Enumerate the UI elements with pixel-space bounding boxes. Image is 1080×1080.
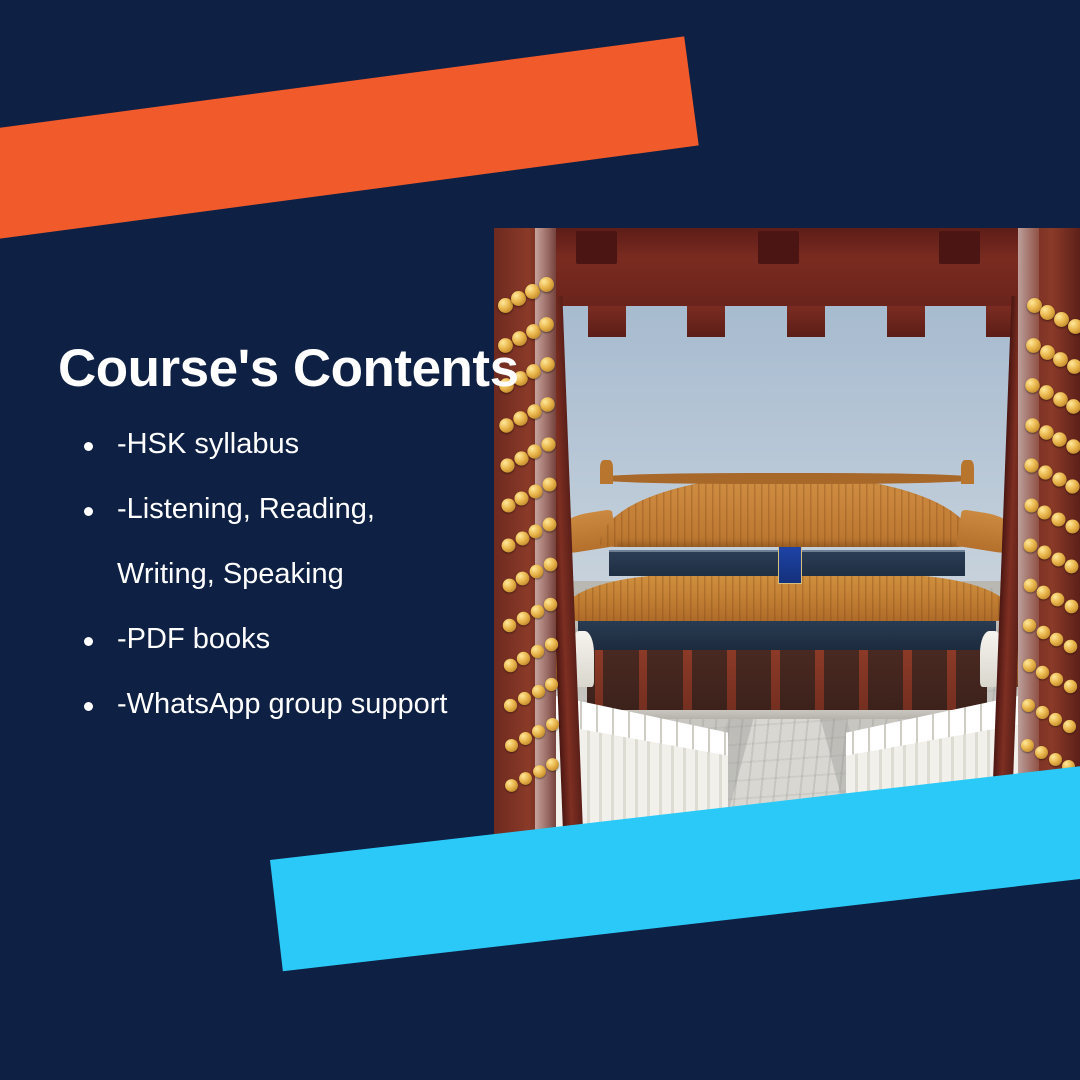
gate-door-right	[1018, 228, 1080, 848]
roof-finial-left	[600, 460, 613, 485]
section-number: 02	[48, 288, 88, 305]
gate-door-left	[494, 228, 556, 848]
door-studs-right	[1018, 228, 1080, 848]
upper-roof	[600, 476, 974, 547]
lower-frieze	[578, 618, 997, 650]
hall-of-supreme-harmony	[564, 476, 1009, 749]
page-title: Course's Contents	[58, 338, 519, 399]
roof-finial-right	[961, 460, 974, 485]
list-item: -PDF books	[72, 607, 472, 672]
presentation-slide: 02 Course's Contents -HSK syllabus -List…	[0, 0, 1080, 1080]
door-studs-left	[494, 228, 556, 848]
list-item: -HSK syllabus	[72, 412, 472, 477]
list-item: -Listening, Reading, Writing, Speaking	[72, 477, 472, 607]
gate-lintel	[494, 228, 1080, 306]
gate-brackets	[494, 306, 1080, 337]
dash-icon	[48, 295, 63, 298]
orange-diagonal-band	[0, 36, 699, 240]
list-item: -WhatsApp group support	[72, 672, 472, 737]
contents-list: -HSK syllabus -Listening, Reading, Writi…	[72, 412, 472, 737]
forbidden-city-photo	[494, 228, 1080, 848]
blue-plaque	[778, 544, 802, 584]
section-number-value: 02	[70, 288, 88, 305]
roof-ridge	[600, 473, 974, 484]
colonnade	[587, 645, 988, 719]
